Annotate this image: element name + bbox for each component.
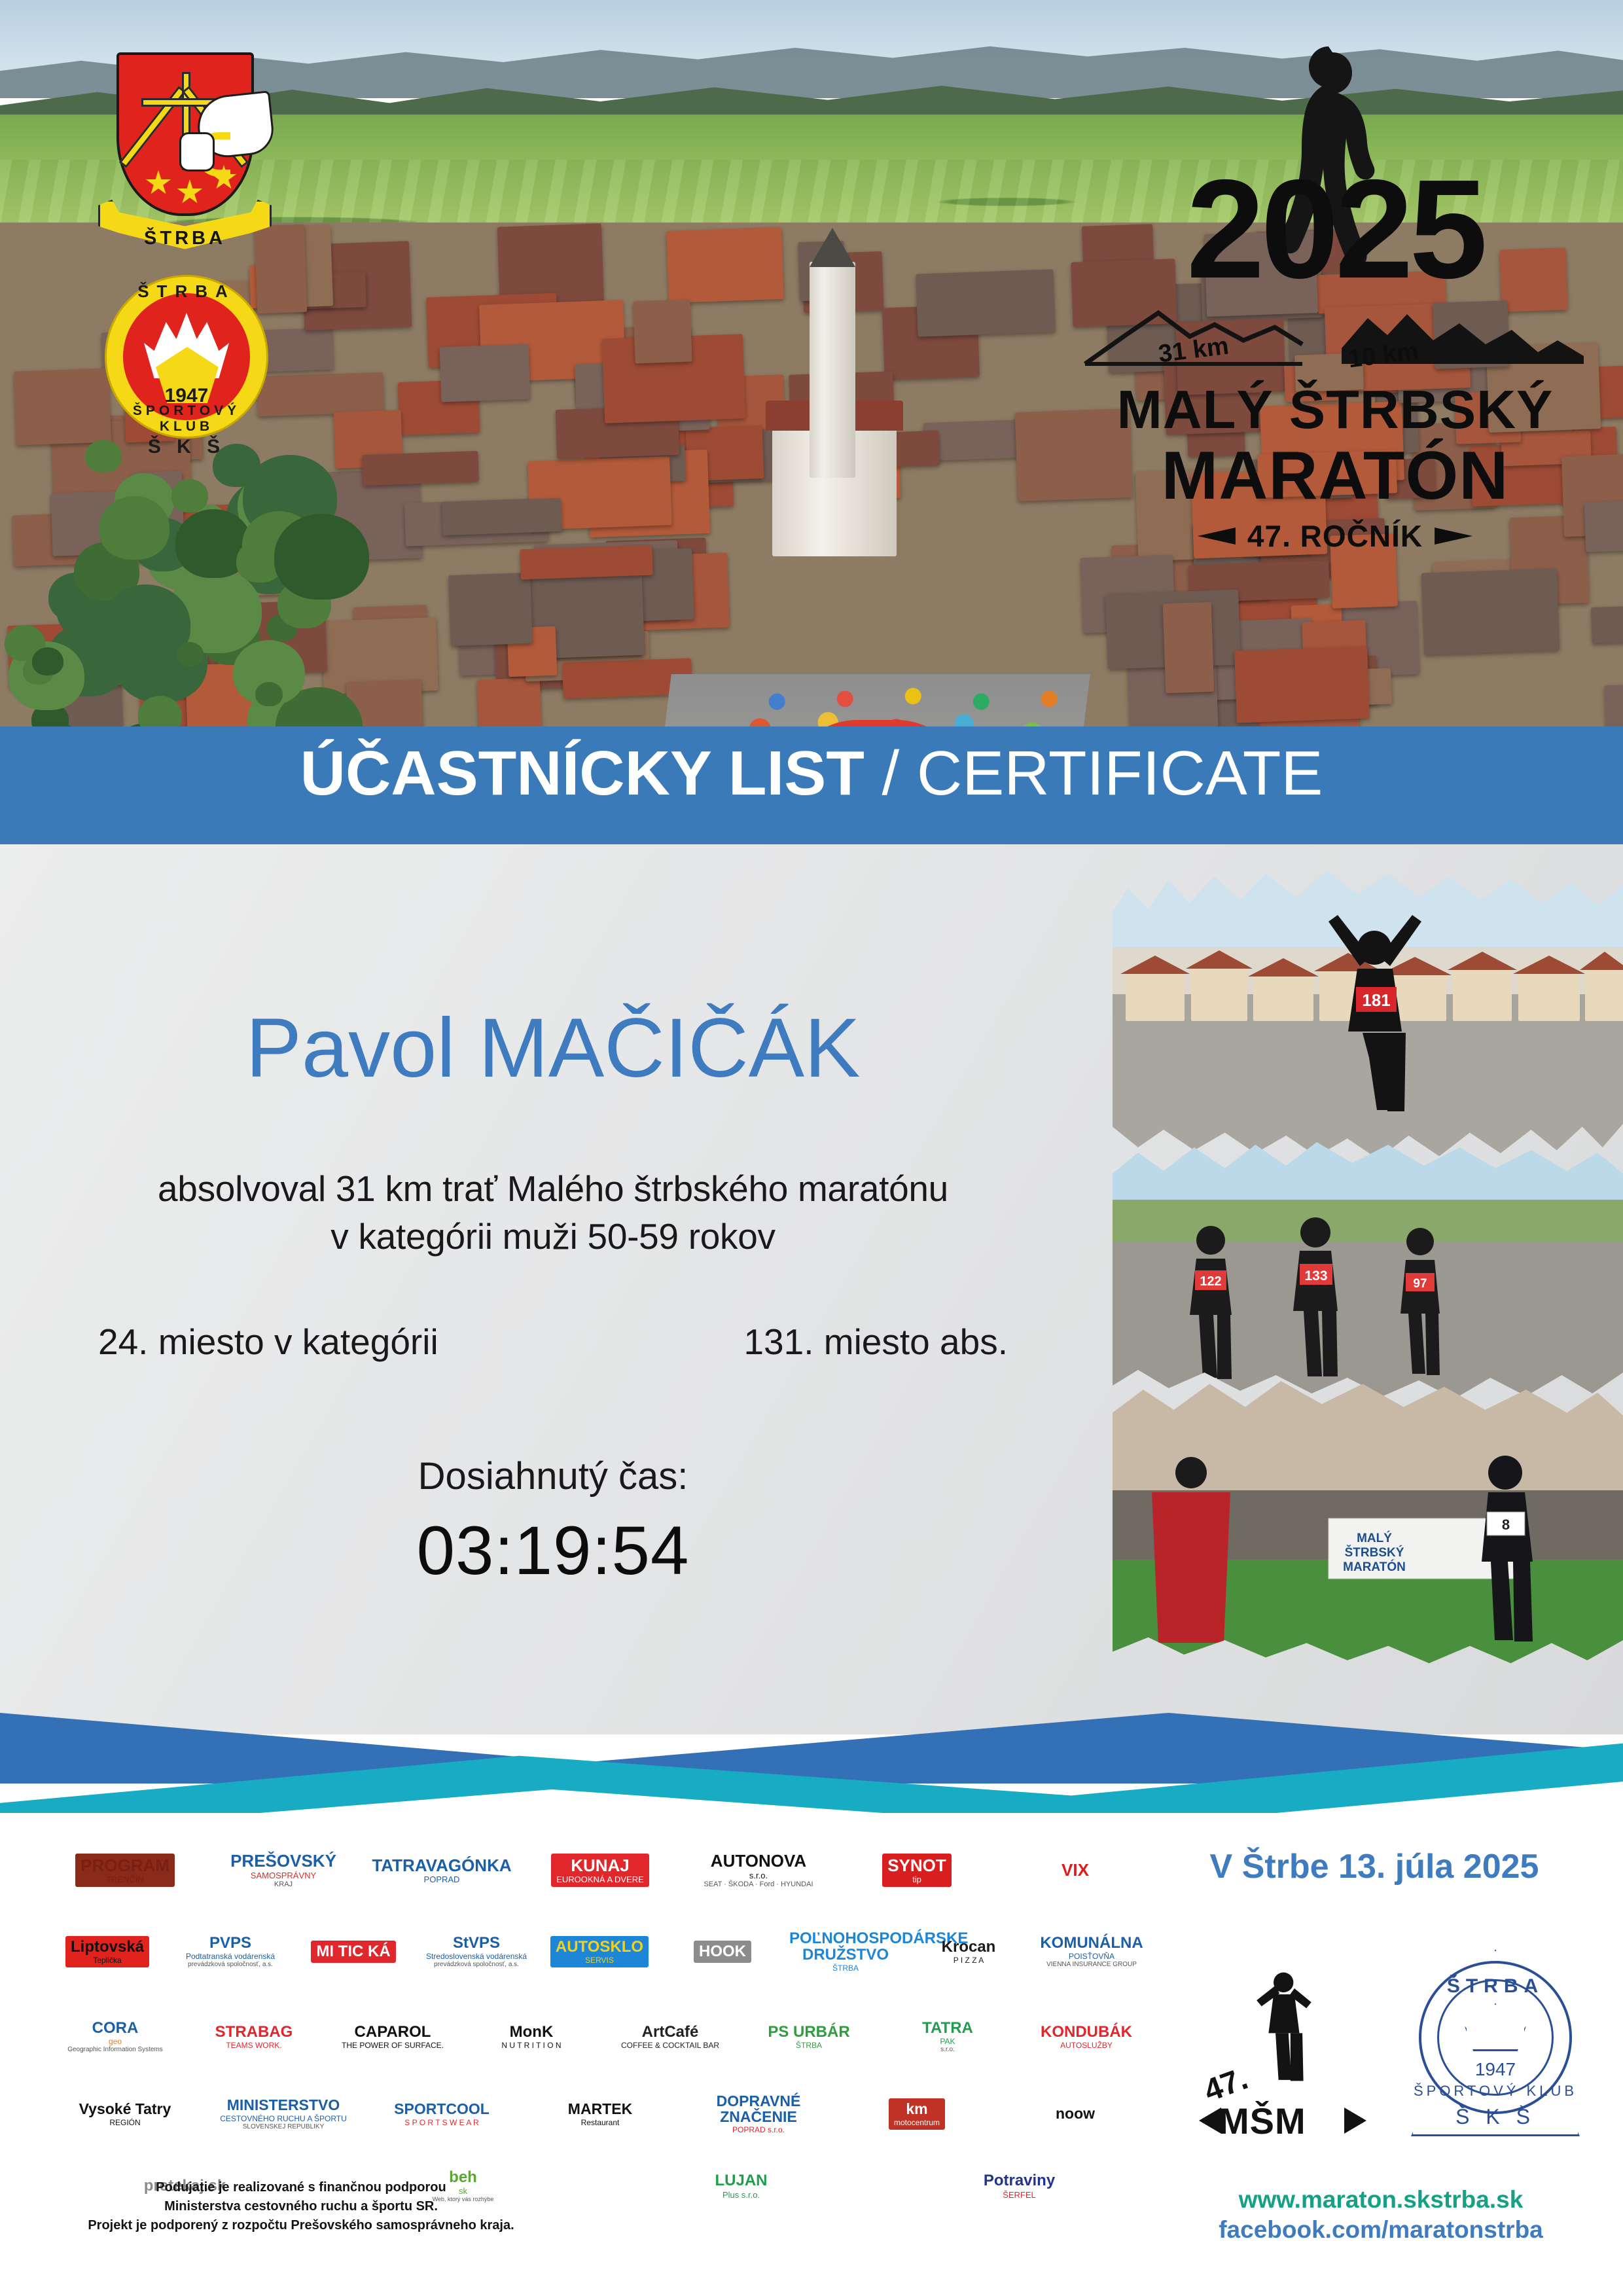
contact-links: www.maraton.skstrba.sk facebook.com/mara… [1165, 2186, 1597, 2244]
sponsor-name-secondary: tip [887, 1875, 946, 1884]
sponsor-logo-artcafe: ArtCaféCOFFEE & COCKTAIL BAR [601, 2001, 740, 2072]
event-title-block: 2025 31 km 10 km MALÝ ŠTRBSKÝ MARATÓN 47… [1073, 46, 1597, 589]
stamp-arc-top: ŠTRBA [1407, 1975, 1584, 1998]
sponsor-name-secondary: SERVIS [556, 1956, 643, 1964]
svg-text:8: 8 [1502, 1516, 1510, 1533]
sponsor-name-secondary: S P O R T S W E A R [394, 2119, 490, 2126]
sponsor-name-secondary: TEAMS WORK. [215, 2041, 293, 2049]
finish-time-value: 03:19:54 [0, 1512, 1106, 1590]
sponsor-name-primary: PS URBÁR [768, 2024, 849, 2040]
sponsor-logo-strabag: STRABAGTEAMS WORK. [185, 2001, 323, 2072]
sponsor-name-secondary: AUTOSLUŽBY [1041, 2041, 1132, 2049]
sponsor-name-primary: HOOK [699, 1944, 746, 1960]
sponsor-logo-liptovska-teplicka: LiptovskáTeplička [46, 1916, 169, 1987]
sponsor-name-primary: MARTEK [568, 2102, 632, 2117]
sponsor-logo-martek-restaurant: MARTEKRestaurant [521, 2079, 679, 2149]
sponsor-name-secondary: motocentrum [894, 2119, 940, 2126]
coa-star-1 [145, 170, 171, 196]
sponsor-name-primary: VIX [1061, 1861, 1089, 1879]
sponsor-name-secondary: P I Z Z A [942, 1956, 996, 1964]
sponsor-name-secondary: N U T R I T I O N [501, 2041, 561, 2049]
photo-finish-female-runner: 181 [1113, 870, 1623, 1165]
sponsor-name-primary: Liptovská [71, 1939, 144, 1955]
sponsor-name-primary: ArtCafé [621, 2024, 719, 2040]
sponsor-row-3: CORAgeoGeographic Information SystemsSTR… [46, 2001, 1158, 2072]
strba-coat-of-arms: ŠTRBA [98, 52, 272, 268]
sponsor-name-primary: Krocan [942, 1939, 996, 1955]
sponsor-name-primary: KUNAJ [556, 1857, 644, 1874]
sponsor-name-primary: POĽNOHOSPODÁRSKE DRUŽSTVO [789, 1931, 902, 1963]
sponsor-logo-kondubak: KONDUBÁKAUTOSLUŽBY [1017, 2001, 1156, 2072]
sponsor-name-primary: AUTOSKLO [556, 1939, 643, 1955]
sponsor-name-secondary: geo [67, 2037, 163, 2045]
mountain-profile-icon [1080, 301, 1590, 373]
sponsor-name-primary: MonK [501, 2024, 561, 2040]
sponsor-logo-autonova: AUTONOVAs.r.o.SEAT · ŠKODA · Ford · HYUN… [679, 1833, 838, 1908]
event-title-line1: MALÝ ŠTRBSKÝ [1073, 378, 1597, 441]
sponsor-name-tertiary: Geographic Information Systems [67, 2047, 163, 2053]
sponsor-logo-corageo: CORAgeoGeographic Information Systems [46, 2001, 185, 2072]
finish-time-label: Dosiahnutý čas: [0, 1454, 1106, 1498]
sponsor-logo-monk-nutrition: MonKN U T R I T I O N [462, 2001, 601, 2072]
svg-text:MARATÓN: MARATÓN [1343, 1560, 1406, 1574]
coa-fist [179, 132, 215, 171]
sponsor-logo-stvps: StVPSStredoslovenská vodárenskáprevádzko… [415, 1916, 538, 1987]
stamp-abbr: Š K Š [1407, 2105, 1584, 2129]
sponsor-name-secondary: s.r.o. [704, 1871, 813, 1880]
sponsor-name-primary: PROGRAM [80, 1857, 169, 1874]
sponsor-name-secondary: Restaurant [568, 2119, 632, 2126]
sponsor-logo-ministerstvo-cestovneho-ruchu-a-sportu: MINISTERSTVOCESTOVNÉHO RUCHU A ŠPORTUSLO… [204, 2079, 363, 2149]
sponsor-name-primary: PREŠOVSKÝ [230, 1852, 336, 1870]
sponsor-logo-ps-urbar-strba: PS URBÁRŠTRBA [740, 2001, 878, 2072]
sponsor-name-secondary: ŠERFEL [984, 2191, 1055, 2199]
sponsor-name-primary: noow [1056, 2106, 1095, 2121]
sponsor-logo-sportcool: SPORTCOOLS P O R T S W E A R [363, 2079, 521, 2149]
triangle-right-icon [1435, 528, 1472, 545]
sponsor-name-primary: MINISTERSTVO [220, 2098, 347, 2113]
emblem-caption: Š K Š [105, 436, 268, 458]
sponsor-grid: PROGRAMTRENČÍNPREŠOVSKÝSAMOSPRÁVNYKRAJTA… [46, 1833, 1158, 2238]
stamp-year: 1947 [1407, 2059, 1584, 2080]
sponsor-name-primary: km [894, 2102, 940, 2117]
bib-number-text: 181 [1362, 990, 1390, 1010]
coa-ribbon-label: ŠTRBA [98, 228, 272, 249]
sponsor-logo-program-trencin: PROGRAMTRENČÍN [46, 1833, 204, 1908]
msm-triangle-right-icon [1344, 2108, 1366, 2134]
sponsor-name-tertiary: SLOVENSKEJ REPUBLIKY [220, 2124, 347, 2130]
sponsor-name-tertiary: prevádzková spoločnosť, a.s. [186, 1962, 275, 1968]
certificate-description: absolvoval 31 km trať Malého štrbského m… [0, 1165, 1106, 1260]
sponsor-logo-krocan-pizza: KrocanP I Z Z A [907, 1916, 1030, 1987]
banner-title-en: CERTIFICATE [917, 738, 1323, 808]
website-link[interactable]: www.maraton.skstrba.sk [1165, 2186, 1597, 2214]
sponsor-logo-autosklo-servis: AUTOSKLOSERVIS [538, 1916, 661, 1987]
sponsor-logo-komunalna-poistovna: KOMUNÁLNAPOISŤOVŇAVIENNA INSURANCE GROUP [1030, 1916, 1153, 1987]
sport-club-emblem: ŠTRBA 1947 ŠPORTOVÝ KLUB Š K Š [105, 275, 268, 439]
sponsor-name-secondary: SAMOSPRÁVNY [230, 1871, 336, 1880]
facebook-link[interactable]: facebook.com/maratonstrba [1165, 2216, 1597, 2244]
sponsor-name-primary: KONDUBÁK [1041, 2024, 1132, 2040]
sponsor-name-tertiary: VIENNA INSURANCE GROUP [1040, 1962, 1143, 1968]
banner-title-sk: ÚČASTNÍCKY LIST [300, 738, 865, 808]
sponsor-row-4: Vysoké TatryREGIÓNMINISTERSTVOCESTOVNÉHO… [46, 2079, 1158, 2149]
event-title-line2: MARATÓN [1073, 437, 1597, 515]
sponsor-logo-presovsky-samospravny-kraj: PREŠOVSKÝSAMOSPRÁVNYKRAJ [204, 1833, 363, 1908]
banner-title-separator: / [865, 738, 917, 808]
sponsor-logo-caparol: CAPAROLTHE POWER OF SURFACE. [323, 2001, 462, 2072]
description-line-2: v kategórii muži 50-59 rokov [0, 1213, 1106, 1261]
club-stamp: ŠTRBA 1947 ŠPORTOVÝ KLUB Š K Š [1407, 1937, 1584, 2140]
stamp-arc-bottom: ŠPORTOVÝ KLUB [1407, 2083, 1584, 2100]
sponsor-name-tertiary: s.r.o. [922, 2047, 973, 2053]
sponsor-name-primary: TATRAVAGÓNKA [372, 1857, 511, 1874]
sponsor-name-secondary: POISŤOVŇA [1040, 1952, 1143, 1960]
sponsor-logo-miticka: MI TIC KÁ [292, 1916, 415, 1987]
sponsor-name-secondary: ŠTRBA [768, 2041, 849, 2049]
sponsor-logo-potraviny-serfel: PotravinyŠERFEL [880, 2151, 1158, 2221]
certificate-page: ŠTART ŠTRBA ŠTRBA 1947 ŠPORTOVÝ KLUB Š K… [0, 0, 1623, 2296]
race-crowd [740, 674, 1080, 726]
msm-abbr: MŠM [1219, 2100, 1306, 2142]
sponsor-logo-km-motocentrum: kmmotocentrum [838, 2079, 996, 2149]
sponsor-logo-pd-strba: POĽNOHOSPODÁRSKE DRUŽSTVOŠTRBA [784, 1916, 907, 1987]
sponsor-name-secondary: REGIÓN [79, 2119, 171, 2126]
msm-emblem: 47. MŠM [1204, 1950, 1368, 2140]
sponsor-logo-dopravne-znacenie-poprad: DOPRAVNÉ ZNAČENIEPOPRAD s.r.o. [679, 2079, 838, 2149]
absolute-placement: 131. miesto abs. [743, 1321, 1008, 1363]
photo-group-runners: 122 133 97 [1113, 1142, 1623, 1404]
sponsor-logo-synottip: SYNOTtip [838, 1833, 996, 1908]
sponsor-name-secondary: Stredoslovenská vodárenská [426, 1952, 527, 1960]
sponsor-logo-tatrapak: TATRAPAKs.r.o. [878, 2001, 1017, 2072]
participant-name: Pavol MAČIČÁK [0, 1000, 1106, 1096]
sponsor-name-primary: MI TIC KÁ [316, 1944, 390, 1960]
sponsor-logo-kunaj: KUNAJEUROOKNÁ A DVERE [521, 1833, 679, 1908]
photo-finish-male-runner: MALÝ ŠTRBSKÝ MARATÓN 8 [1113, 1381, 1623, 1669]
coa-star-2 [177, 179, 203, 206]
sponsor-name-tertiary: prevádzková spoločnosť, a.s. [426, 1962, 527, 1968]
sponsor-name-primary: LUJAN [715, 2173, 767, 2189]
sponsor-logo-hook: HOOK [661, 1916, 784, 1987]
photo-collage: 181 122 133 97 MALÝ ŠTR [1113, 870, 1623, 1708]
sponsor-name-primary: TATRA [922, 2020, 973, 2036]
sponsor-logo-vysoke-tatry-region: Vysoké TatryREGIÓN [46, 2079, 204, 2149]
sponsor-name-primary: STRABAG [215, 2024, 293, 2040]
trees [0, 439, 314, 726]
sponsor-row-2: LiptovskáTepličkaPVPSPodtatranská vodáre… [46, 1916, 1158, 1987]
event-edition: 47. ROČNÍK [1247, 518, 1423, 554]
photo3-scene: MALÝ ŠTRBSKÝ MARATÓN 8 [1113, 1381, 1623, 1669]
sponsor-name-secondary: Podtatranská vodárenská [186, 1952, 275, 1960]
sponsor-logo-pvps: PVPSPodtatranská vodárenskáprevádzková s… [169, 1916, 292, 1987]
sponsor-name-primary: SYNOT [887, 1857, 946, 1874]
sponsor-name-secondary: TRENČÍN [80, 1875, 169, 1884]
sponsor-name-secondary: PAK [922, 2037, 973, 2045]
description-line-1: absolvoval 31 km trať Malého štrbského m… [0, 1165, 1106, 1213]
placement-row: 24. miesto v kategórii 131. miesto abs. [0, 1321, 1106, 1363]
sponsor-name-secondary: COFFEE & COCKTAIL BAR [621, 2041, 719, 2049]
funding-note: Podujatie je realizované s finančnou pod… [52, 2178, 550, 2235]
sponsor-name-tertiary: SEAT · ŠKODA · Ford · HYUNDAI [704, 1881, 813, 1888]
photo1-runner-figure: 181 [1113, 870, 1623, 1165]
sponsor-name-secondary: CESTOVNÉHO RUCHU A ŠPORTU [220, 2115, 347, 2123]
sponsor-name-primary: CAPAROL [342, 2024, 444, 2040]
sponsor-name-secondary: Teplička [71, 1956, 144, 1964]
sponsor-logo-tatravagonka-poprad: TATRAVAGÓNKAPOPRAD [363, 1833, 521, 1908]
sponsor-name-secondary: POPRAD s.r.o. [685, 2126, 832, 2134]
sponsor-logo-lujan-plus: LUJANPlus s.r.o. [602, 2151, 880, 2221]
sponsor-name-tertiary: KRAJ [230, 1881, 336, 1888]
finish-banner-text: MALÝ [1357, 1531, 1392, 1545]
sponsor-name-primary: PVPS [186, 1935, 275, 1951]
sponsor-name-primary: AUTONOVA [704, 1852, 813, 1870]
sponsor-name-primary: CORA [67, 2020, 163, 2036]
sponsor-name-secondary: THE POWER OF SURFACE. [342, 2041, 444, 2049]
sponsor-logo-vix: VIX [996, 1833, 1154, 1908]
emblem-arc-top: ŠTRBA [105, 281, 268, 302]
sponsor-logo-noow: noow [996, 2079, 1154, 2149]
sponsor-name-secondary: ŠTRBA [789, 1964, 902, 1972]
svg-text:97: 97 [1413, 1277, 1427, 1291]
sponsor-name-primary: Potraviny [984, 2173, 1055, 2189]
banner-title: ÚČASTNÍCKY LIST / CERTIFICATE [0, 734, 1623, 813]
sponsor-row-1: PROGRAMTRENČÍNPREŠOVSKÝSAMOSPRÁVNYKRAJTA… [46, 1833, 1158, 1908]
svg-text:ŠTRBSKÝ: ŠTRBSKÝ [1345, 1545, 1404, 1560]
funding-note-line-2: Ministerstva cestovného ruchu a športu S… [52, 2197, 550, 2216]
church-tower [810, 262, 855, 478]
sponsor-name-secondary: Plus s.r.o. [715, 2191, 767, 2199]
svg-text:133: 133 [1304, 1268, 1327, 1283]
funding-note-line-3: Projekt je podporený z rozpočtu Prešovsk… [52, 2216, 550, 2235]
sponsor-name-secondary: POPRAD [372, 1875, 511, 1884]
emblem-arc-bottom: ŠPORTOVÝ KLUB [105, 403, 268, 435]
photo2-runner-figures: 122 133 97 [1113, 1142, 1623, 1404]
sponsor-name-primary: SPORTCOOL [394, 2102, 490, 2117]
shield-shape [116, 52, 254, 216]
sponsor-name-primary: DOPRAVNÉ ZNAČENIE [685, 2094, 832, 2125]
svg-text:122: 122 [1200, 1274, 1221, 1289]
sponsor-name-secondary: EUROOKNÁ A DVERE [556, 1875, 644, 1884]
funding-note-line-1: Podujatie je realizované s finančnou pod… [52, 2178, 550, 2197]
sponsor-name-primary: KOMUNÁLNA [1040, 1935, 1143, 1951]
category-placement: 24. miesto v kategórii [98, 1321, 438, 1363]
issue-date: V Štrbe 13. júla 2025 [1171, 1847, 1577, 1886]
sponsor-name-primary: Vysoké Tatry [79, 2102, 171, 2117]
triangle-left-icon [1198, 528, 1236, 545]
sponsor-name-primary: StVPS [426, 1935, 527, 1951]
event-edition-row: 47. ROČNÍK [1073, 518, 1597, 554]
event-year: 2025 [1073, 158, 1597, 299]
